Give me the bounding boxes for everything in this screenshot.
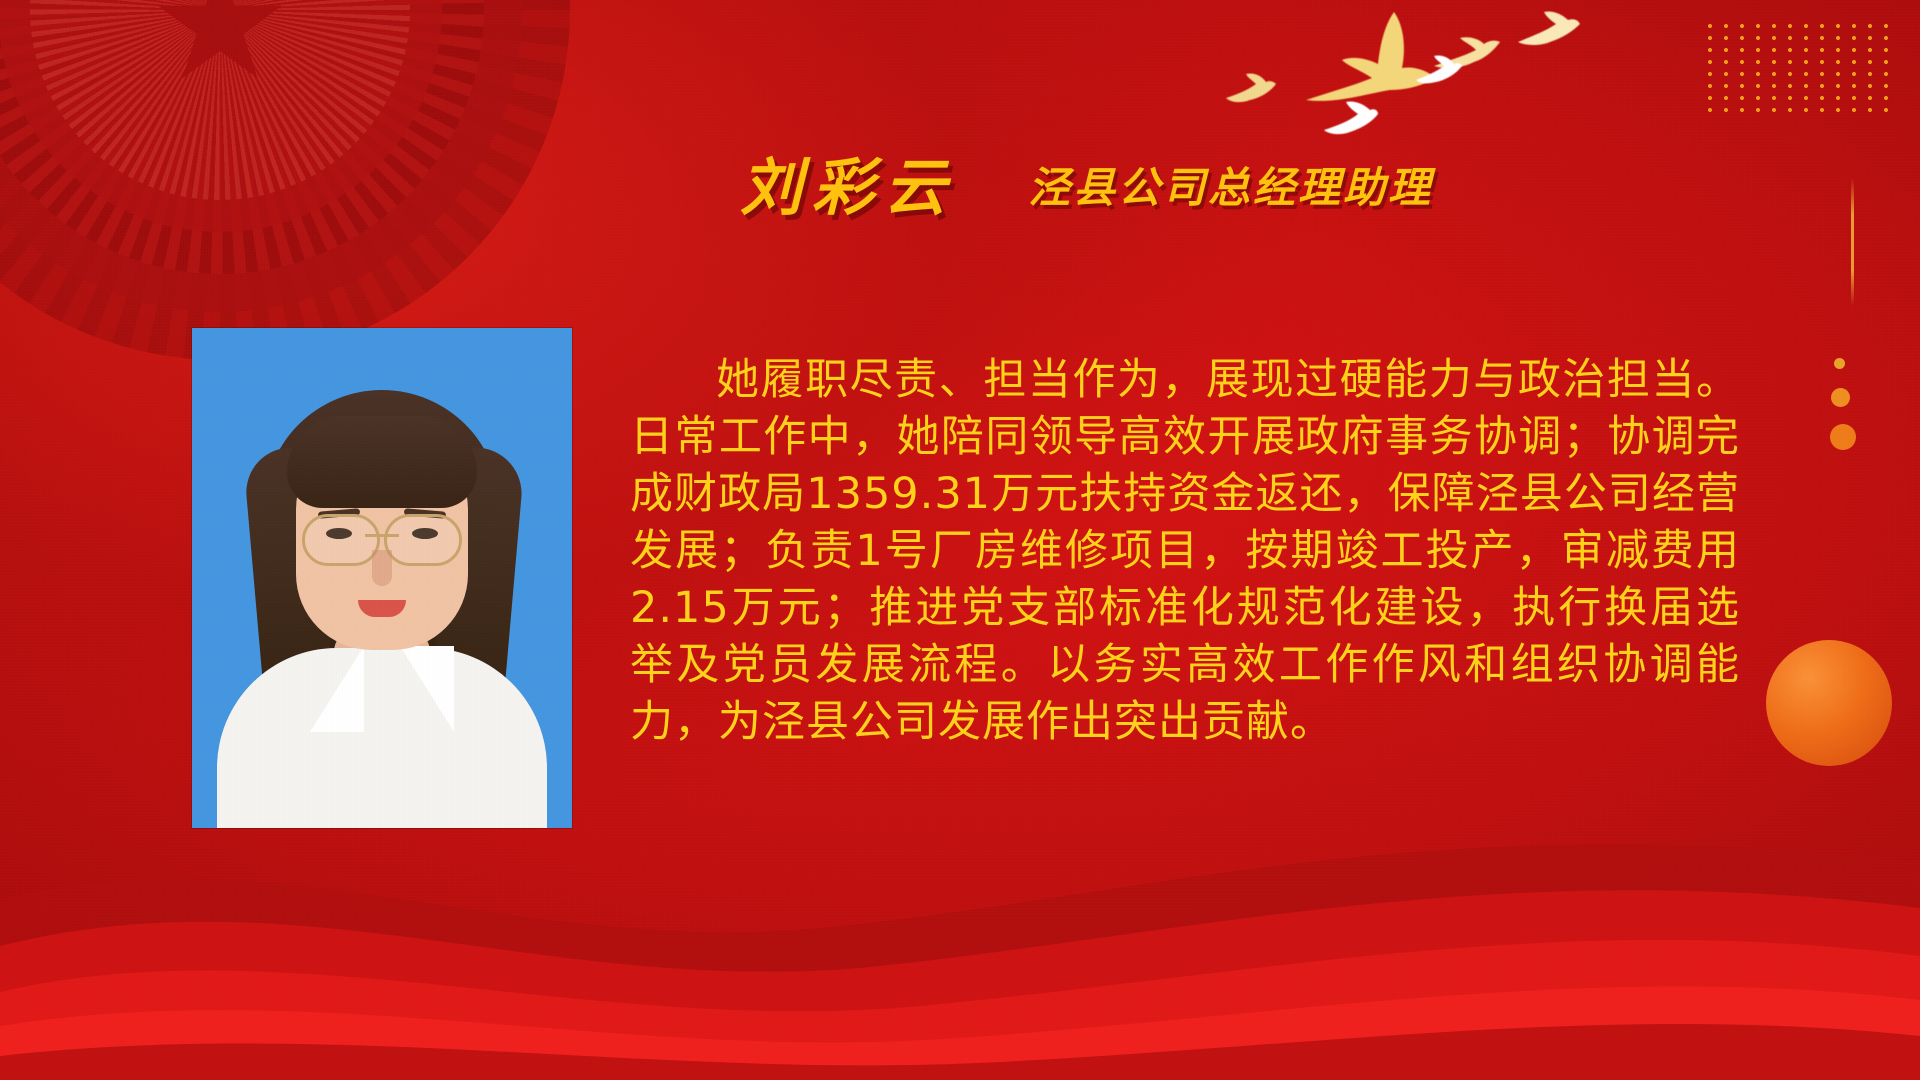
portrait-collar-right <box>400 646 454 732</box>
body-text-block: 她履职尽责、担当作为，展现过硬能力与政治担当。日常工作中，她陪同领导高效开展政府… <box>630 352 1740 751</box>
body-paragraph: 她履职尽责、担当作为，展现过硬能力与政治担当。日常工作中，她陪同领导高效开展政府… <box>630 352 1740 751</box>
dove-small-4-icon <box>1412 52 1464 90</box>
dove-small-3-icon <box>1222 68 1278 108</box>
dove-small-5-icon <box>1318 96 1380 142</box>
star-icon <box>155 0 285 90</box>
red-ribbon-wave <box>0 750 1920 1080</box>
portrait-nose <box>372 550 392 586</box>
person-role: 泾县公司总经理助理 <box>1028 167 1433 209</box>
accent-dot-small <box>1834 358 1845 369</box>
portrait-collar-left <box>310 646 364 732</box>
portrait-bangs <box>287 416 477 508</box>
dove-large-icon <box>1290 8 1450 128</box>
orange-sphere <box>1766 640 1892 766</box>
dove-small-1-icon <box>1430 28 1502 76</box>
dot-grid <box>1702 20 1898 116</box>
portrait-glasses-bridge <box>365 534 399 537</box>
person-name: 刘彩云 <box>740 157 956 219</box>
accent-dot-large <box>1830 424 1856 450</box>
header: 刘彩云 泾县公司总经理助理 <box>0 142 1920 234</box>
portrait-glasses-left <box>302 514 380 566</box>
portrait-glasses-right <box>384 514 462 566</box>
dove-small-2-icon <box>1512 6 1582 52</box>
accent-dot-medium <box>1831 388 1850 407</box>
slide-root: 刘彩云 泾县公司总经理助理 她履职尽责、担当作为，展现过硬能力与政治担当。日常工… <box>0 0 1920 1080</box>
